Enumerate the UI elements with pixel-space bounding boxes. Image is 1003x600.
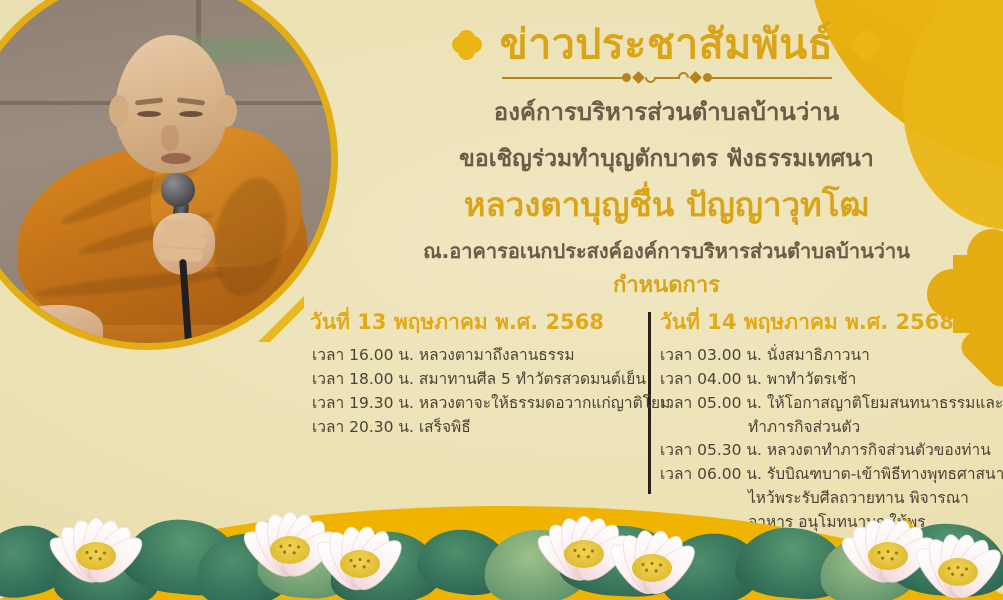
- poster-root: ข่าวประชาสัมพันธ์ องค์การบริหารส่วนตำบลบ…: [0, 0, 1003, 600]
- schedule-item: เวลา 18.00 น. สมาทานศีล 5 ทำวัตรสวดมนต์เ…: [296, 368, 642, 392]
- schedule-item-line: เวลา 19.30 น. หลวงตาจะให้ธรรมดอวากแก่ญาต…: [312, 394, 670, 412]
- schedule-item: เวลา 19.30 น. หลวงตาจะให้ธรรมดอวากแก่ญาต…: [296, 392, 642, 416]
- schedule-item-line: เวลา 05.00 น. ให้โอกาสญาติโยมสนทนาธรรมแล…: [660, 394, 1003, 412]
- eye-right: [179, 111, 203, 117]
- ear-left: [109, 95, 129, 127]
- eye-left: [137, 111, 161, 117]
- schedule-item: เวลา 16.00 น. หลวงตามาถึงลานธรรม: [296, 344, 642, 368]
- lotus-flower: [898, 506, 1003, 600]
- schedule-item: เวลา 05.30 น. หลวงตาทำภารกิจส่วนตัวของท่…: [660, 439, 1003, 463]
- quatrefoil-icon-right: [851, 30, 881, 60]
- organization-name: องค์การบริหารส่วนตำบลบ้านว่าน: [330, 94, 1003, 130]
- schedule-date-day2: วันที่ 14 พฤษภาคม พ.ศ. 2568: [660, 306, 1003, 339]
- monk-name: หลวงตาบุญชื่น ปัญญาวุทโฒ: [330, 184, 1003, 227]
- schedule-item-line: เวลา 20.30 น. เสร็จพิธี: [312, 418, 471, 436]
- schedule-item-line: เวลา 05.30 น. หลวงตาทำภารกิจส่วนตัวของท่…: [660, 441, 991, 459]
- schedule-item: เวลา 03.00 น. นั่งสมาธิภาวนา: [660, 344, 1003, 368]
- schedule-item-line: เวลา 16.00 น. หลวงตามาถึงลานธรรม: [312, 346, 575, 364]
- schedule-item: เวลา 05.00 น. ให้โอกาสญาติโยมสนทนาธรรมแล…: [660, 392, 1003, 440]
- lotus-flower: [36, 490, 156, 586]
- lotus-flower: [592, 502, 712, 598]
- agenda-label: กำหนดการ: [330, 272, 1003, 301]
- schedule-item-line: เวลา 04.00 น. พาทำวัตรเช้า: [660, 370, 856, 388]
- schedule-column-day1: วันที่ 13 พฤษภาคม พ.ศ. 2568 เวลา 16.00 น…: [296, 306, 642, 439]
- venue-text: ณ.อาคารอเนกประสงค์องค์การบริหารส่วนตำบลบ…: [330, 237, 1003, 265]
- quatrefoil-icon-left: [452, 30, 482, 60]
- header-block: ข่าวประชาสัมพันธ์ องค์การบริหารส่วนตำบลบ…: [330, 22, 1003, 301]
- title-row: ข่าวประชาสัมพันธ์: [330, 22, 1003, 68]
- schedule-item: เวลา 20.30 น. เสร็จพิธี: [296, 416, 642, 440]
- invitation-text: ขอเชิญร่วมทำบุญตักบาตร ฟังธรรมเทศนา: [330, 142, 1003, 177]
- schedule-item-continuation: ทำภารกิจส่วนตัว: [660, 416, 1003, 440]
- microphone-head: [161, 173, 195, 207]
- ornamental-divider: [502, 71, 832, 85]
- monk-photo: [0, 0, 338, 350]
- schedule-item: เวลา 04.00 น. พาทำวัตรเช้า: [660, 368, 1003, 392]
- bottom-decoration-band: [0, 480, 1003, 600]
- monk-photo-canvas: [0, 0, 331, 343]
- schedule-item-line: เวลา 18.00 น. สมาทานศีล 5 ทำวัตรสวดมนต์เ…: [312, 370, 646, 388]
- mouth: [161, 153, 191, 164]
- lotus-flower: [300, 498, 420, 594]
- page-title: ข่าวประชาสัมพันธ์: [500, 22, 834, 68]
- schedule-item-line: เวลา 03.00 น. นั่งสมาธิภาวนา: [660, 346, 870, 364]
- ear-right: [217, 95, 237, 127]
- nose: [161, 125, 179, 151]
- schedule-date-day1: วันที่ 13 พฤษภาคม พ.ศ. 2568: [296, 306, 642, 339]
